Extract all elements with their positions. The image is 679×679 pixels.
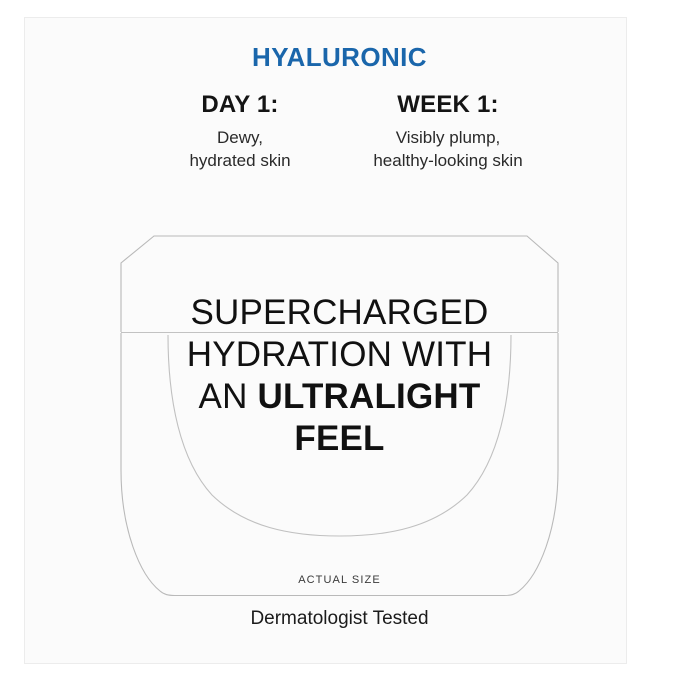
benefit-description: Visibly plump, healthy-looking skin	[320, 127, 576, 172]
headline-line-2: HYDRATION WITH	[0, 334, 679, 376]
product-label-image: HYALURONIC DAY 1: Dewy, hydrated skin WE…	[0, 0, 679, 679]
headline-line-1: SUPERCHARGED	[0, 292, 679, 334]
page-title: HYALURONIC	[0, 42, 679, 73]
headline-line-3-prefix: AN	[199, 377, 258, 416]
headline-block: SUPERCHARGED HYDRATION WITH AN ULTRALIGH…	[0, 292, 679, 460]
dermatologist-tested-label: Dermatologist Tested	[0, 608, 679, 630]
headline-line-3-emphasis: ULTRALIGHT	[257, 377, 480, 416]
benefit-heading: WEEK 1:	[320, 92, 576, 118]
headline-line-3: AN ULTRALIGHT	[0, 376, 679, 418]
actual-size-label: ACTUAL SIZE	[0, 574, 679, 586]
benefit-column-week1: WEEK 1: Visibly plump, healthy-looking s…	[320, 92, 576, 172]
headline-line-4-emphasis: FEEL	[0, 418, 679, 460]
